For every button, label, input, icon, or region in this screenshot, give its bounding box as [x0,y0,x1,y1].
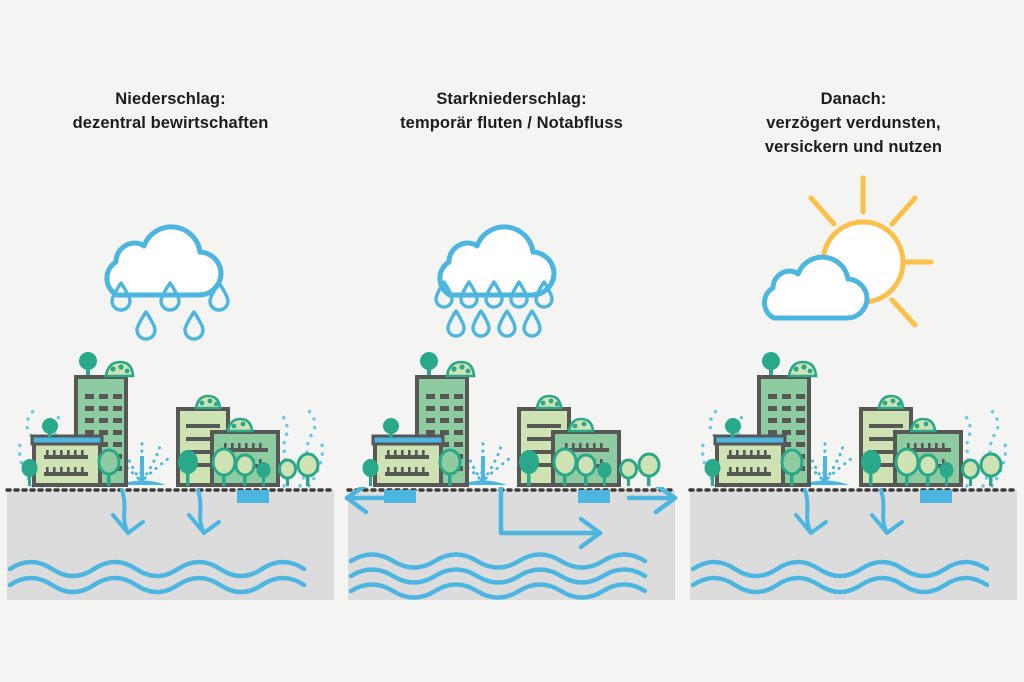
cistern [920,490,952,503]
ground-cross-section [341,487,682,603]
city-skyline [341,352,682,497]
infographic-root: Niederschlag: dezentral bewirtschaften [0,0,1024,682]
cistern-right [578,490,610,503]
cloud-rain-icon [0,170,341,350]
panel-precipitation: Niederschlag: dezentral bewirtschaften [0,0,341,682]
rooftop-greening [420,352,474,376]
panel-title: Danach: verzögert verdunsten, versickern… [683,88,1024,160]
cloud-heavy-rain-icon [341,170,682,350]
rooftop-greening [79,352,133,376]
rooftop-greening [762,352,816,376]
soil-body [7,490,334,600]
soil-body [690,490,1017,600]
cistern [237,490,269,503]
ground-cross-section [0,487,341,603]
ground-cross-section [683,487,1024,603]
sun-behind-cloud-icon [683,170,1024,350]
panel-afterwards: Danach: verzögert verdunsten, versickern… [683,0,1024,682]
city-skyline [0,352,341,497]
city-skyline [683,352,1024,497]
panel-title: Starkniederschlag: temporär fluten / Not… [341,88,682,136]
panel-title: Niederschlag: dezentral bewirtschaften [0,88,341,136]
panel-heavy-rain: Starkniederschlag: temporär fluten / Not… [341,0,682,682]
